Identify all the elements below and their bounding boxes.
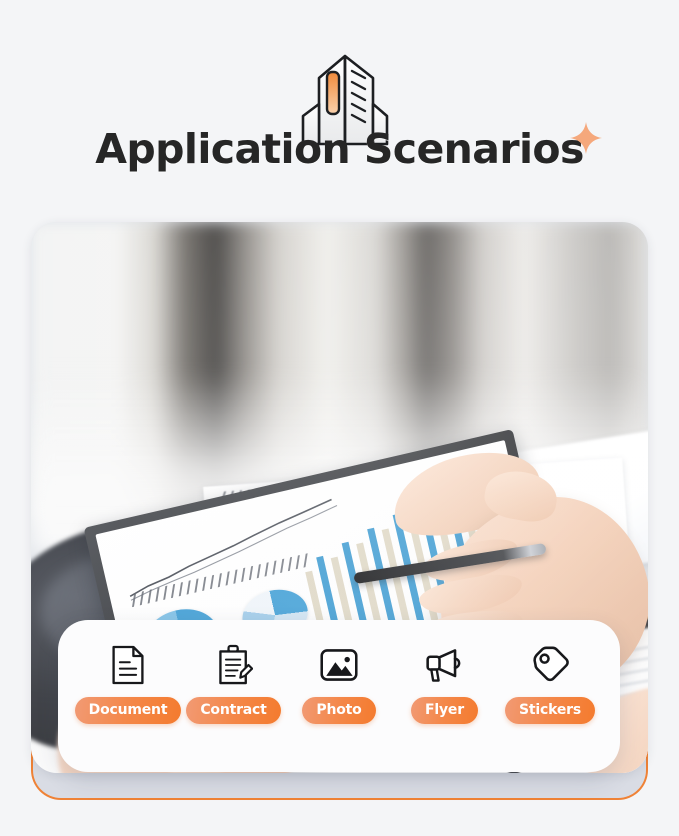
feature-label-flyer: Flyer — [411, 697, 478, 724]
sparkle-icon — [569, 121, 603, 155]
feature-label-photo: Photo — [302, 697, 375, 724]
feature-item-flyer[interactable]: Flyer — [393, 642, 497, 724]
page-title: Application Scenarios — [95, 128, 584, 171]
tag-icon — [530, 642, 570, 688]
feature-label-document: Document — [75, 697, 182, 724]
scenario-feature-card: Document Contract — [58, 620, 620, 772]
feature-label-stickers: Stickers — [505, 697, 595, 724]
feature-label-contract: Contract — [186, 697, 280, 724]
document-icon — [110, 642, 146, 688]
feature-list: Document Contract — [76, 642, 602, 724]
page-header: Application Scenarios — [0, 0, 679, 215]
feature-item-document[interactable]: Document — [76, 642, 180, 724]
feature-item-contract[interactable]: Contract — [182, 642, 286, 724]
photo-image-icon — [319, 642, 359, 688]
megaphone-icon — [424, 642, 466, 688]
feature-item-stickers[interactable]: Stickers — [498, 642, 602, 724]
contract-clipboard-icon — [215, 642, 253, 688]
feature-item-photo[interactable]: Photo — [287, 642, 391, 724]
